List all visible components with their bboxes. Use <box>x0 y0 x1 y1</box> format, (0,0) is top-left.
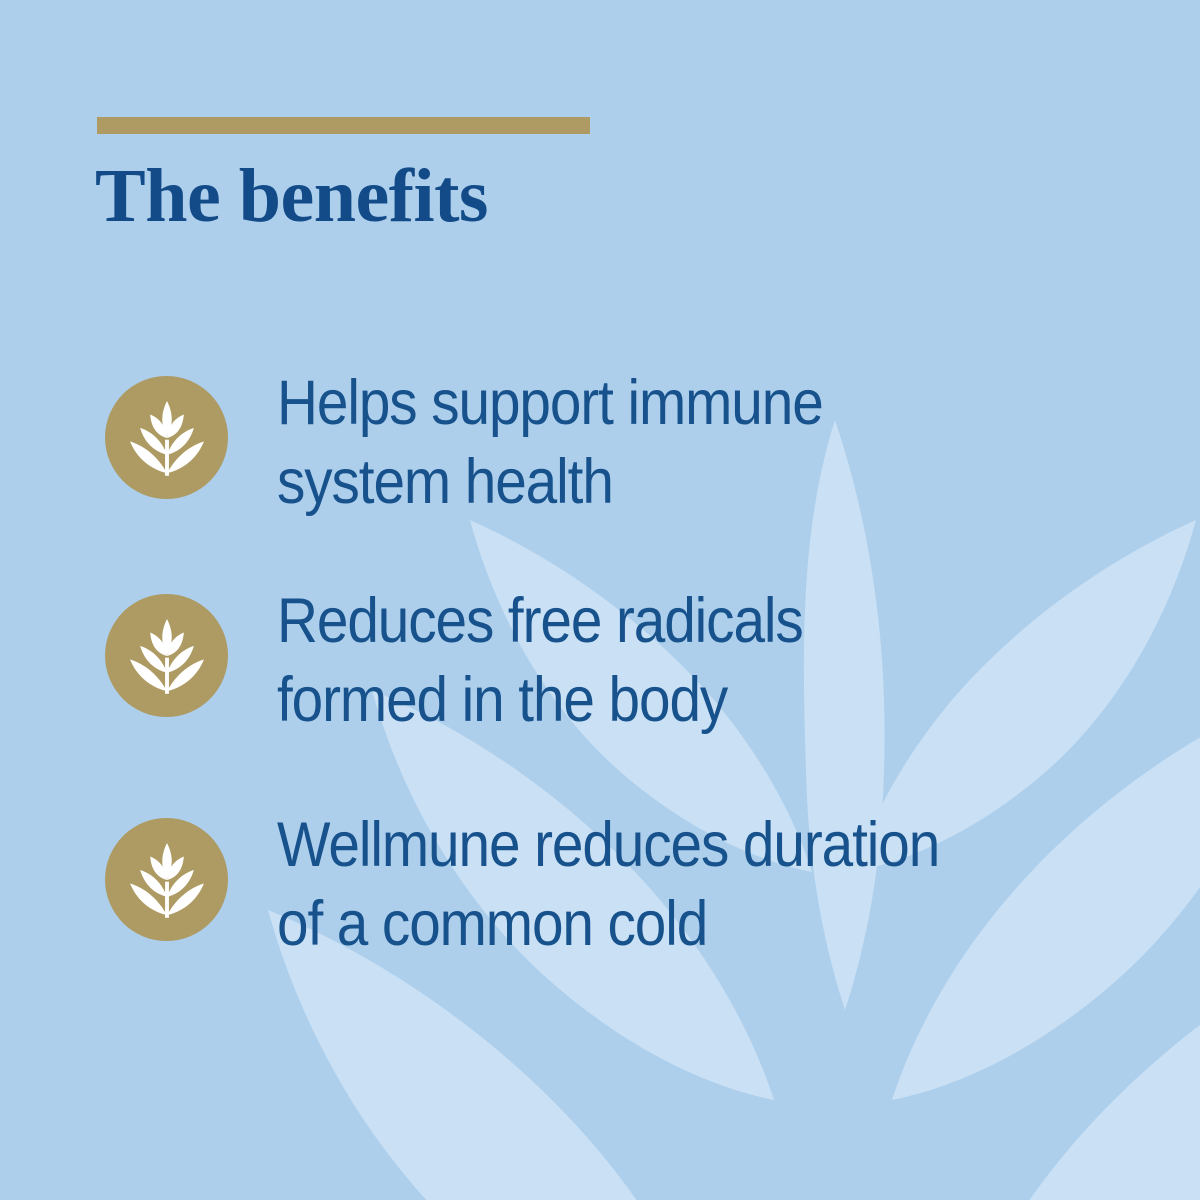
benefit-text: Reduces free radicals formed in the body <box>277 582 1087 740</box>
wheat-sheaf-icon <box>105 376 228 499</box>
wheat-sheaf-icon <box>105 594 228 717</box>
gold-divider-rule <box>97 117 590 134</box>
benefits-card: The benefits Helps supp <box>0 0 1200 1200</box>
benefit-text: Helps support immune system health <box>277 364 1087 522</box>
page-title: The benefits <box>95 155 488 237</box>
wheat-sheaf-icon <box>105 818 228 941</box>
benefit-text: Wellmune reduces duration of a common co… <box>277 806 1087 964</box>
